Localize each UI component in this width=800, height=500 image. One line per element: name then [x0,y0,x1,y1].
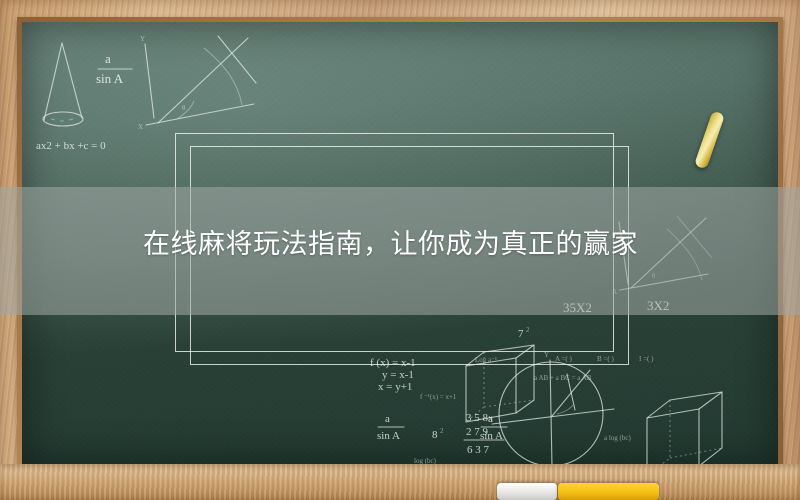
chalk-label-sine-num: a [105,51,111,66]
page-title: 在线麻将玩法指南，让你成为真正的赢家 [143,227,638,261]
svg-text:a: a [488,413,493,425]
svg-text:sin A: sin A [480,430,503,442]
svg-text:θ: θ [182,104,186,112]
chalk-ledge [0,464,800,500]
chalk-label-sum-2: 2 7 9 [466,426,489,438]
svg-text:a: a [385,413,390,425]
white-chalk-icon [497,483,557,500]
svg-text:I =( ): I =( ) [639,355,654,363]
cone-icon [44,43,82,120]
svg-text:X: X [488,415,493,423]
svg-text:X: X [138,123,143,131]
svg-text:x = y+1: x = y+1 [378,381,412,393]
svg-text:f ⁻¹(x) = x+1: f ⁻¹(x) = x+1 [420,393,457,401]
chalk-label-sine-den: sin A [96,71,124,86]
svg-text:Y: Y [140,35,145,43]
yellow-chalk-stick-icon [694,110,725,169]
svg-text:a AB + a BC = a AB: a AB + a BC = a AB [534,374,592,382]
svg-text:log (bc): log (bc) [414,457,437,464]
chalkboard-banner: a sin A Y X θ ax2 + bx +c = 0 [0,0,800,500]
yellow-chalk-icon [558,483,659,500]
svg-text:2: 2 [440,427,444,435]
svg-text:sin A: sin A [377,430,400,442]
svg-text:y = x-1: y = x-1 [382,369,414,381]
cube-wireframe-right [647,392,722,464]
svg-text:8: 8 [432,429,438,441]
chalk-label-sum-1: 3 5 8 [466,412,489,424]
svg-text:a log (bc): a log (bc) [604,434,631,442]
chalk-label-quadratic: ax2 + bx +c = 0 [36,140,106,152]
chalk-label-sum-result: 6 3 7 [467,444,490,456]
circle-diagram: Y X [488,351,614,464]
